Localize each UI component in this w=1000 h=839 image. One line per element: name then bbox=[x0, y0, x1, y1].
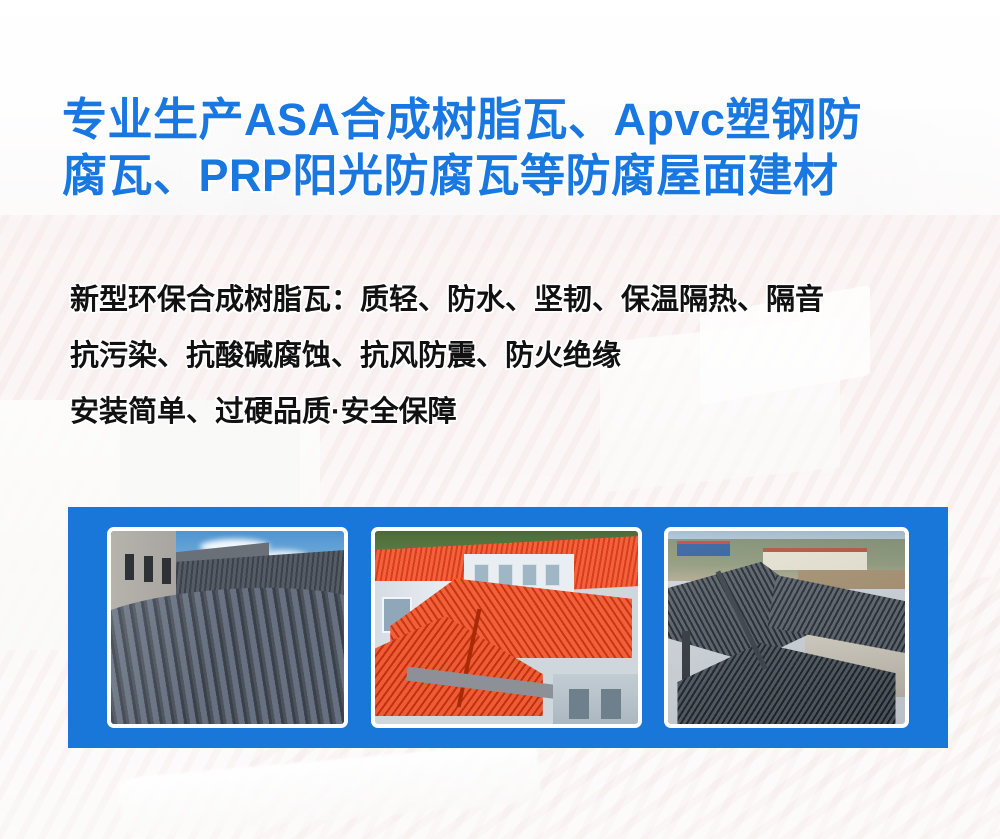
subheadline-line-1: 新型环保合成树脂瓦：质轻、防水、坚韧、保温隔热、隔音 bbox=[70, 272, 970, 328]
headline: 专业生产ASA合成树脂瓦、Apvc塑钢防 腐瓦、PRP阳光防腐瓦等防腐屋面建材 bbox=[62, 92, 952, 204]
headline-line-1: 专业生产ASA合成树脂瓦、Apvc塑钢防 bbox=[62, 92, 952, 148]
gallery-photo-black-apvc-tile-roof[interactable] bbox=[664, 527, 909, 728]
subheadline-line-3: 安装简单、过硬品质·安全保障 bbox=[70, 384, 970, 440]
product-banner: 专业生产ASA合成树脂瓦、Apvc塑钢防 腐瓦、PRP阳光防腐瓦等防腐屋面建材 … bbox=[0, 0, 1000, 839]
photo2-window bbox=[522, 564, 537, 586]
photo1-window bbox=[125, 554, 134, 580]
subheadline-line-2: 抗污染、抗酸碱腐蚀、抗风防震、防火绝缘 bbox=[70, 328, 970, 384]
photo2-window bbox=[569, 689, 589, 719]
photo2-window bbox=[545, 564, 560, 586]
photo-content bbox=[668, 531, 905, 724]
photo1-roof-highlight bbox=[111, 581, 344, 724]
photo3-shading-overlay bbox=[668, 531, 905, 724]
photo2-window bbox=[601, 689, 621, 719]
subheadline: 新型环保合成树脂瓦：质轻、防水、坚韧、保温隔热、隔音 抗污染、抗酸碱腐蚀、抗风防… bbox=[70, 272, 970, 440]
gallery-photo-red-resin-tile-roof[interactable] bbox=[371, 527, 642, 728]
photo1-window bbox=[162, 558, 171, 584]
photo-gallery-panel bbox=[68, 507, 948, 748]
photo2-window bbox=[498, 564, 513, 586]
photo-content bbox=[375, 531, 638, 724]
headline-line-2: 腐瓦、PRP阳光防腐瓦等防腐屋面建材 bbox=[62, 148, 952, 204]
photo-content bbox=[111, 531, 344, 724]
photo2-front-building bbox=[553, 674, 637, 724]
photo1-window bbox=[144, 556, 153, 582]
gallery-photo-grey-resin-tile-roof[interactable] bbox=[107, 527, 348, 728]
